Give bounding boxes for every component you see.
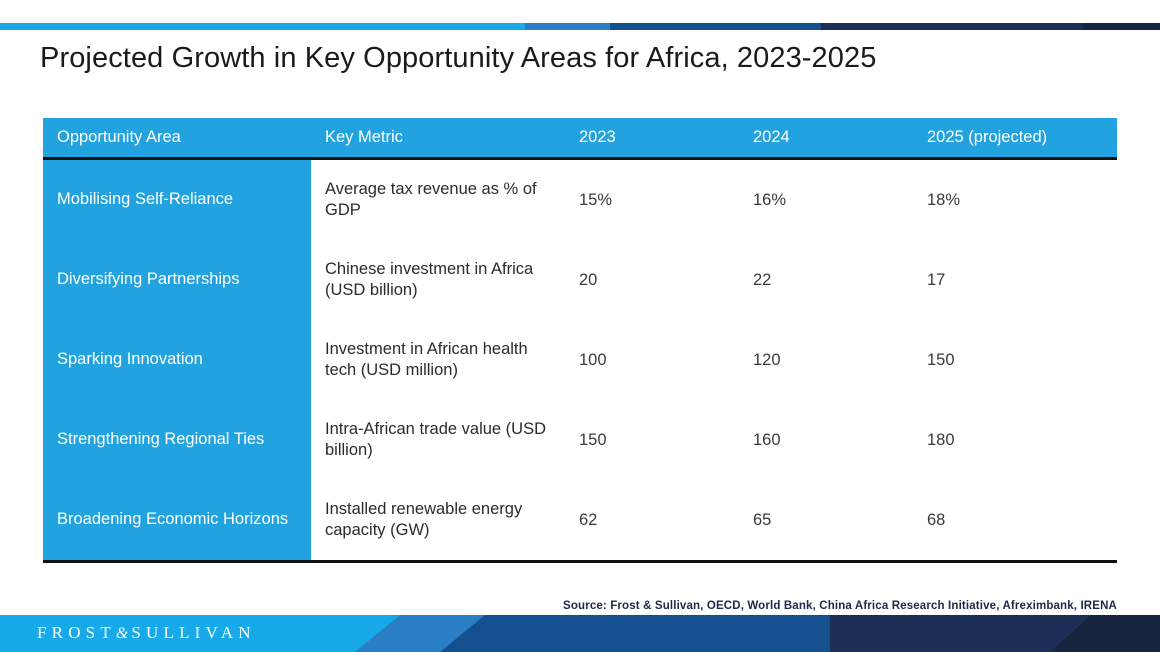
top-bar-segment-mid-blue: [525, 23, 610, 30]
table-row: Strengthening Regional Ties Intra-Africa…: [43, 400, 1117, 480]
top-bar-segment-navy: [821, 23, 1083, 30]
table-row: Sparking Innovation Investment in Africa…: [43, 320, 1117, 400]
cell-key-metric: Investment in African health tech (USD m…: [311, 320, 579, 400]
brand-ampersand-icon: &: [116, 625, 131, 642]
top-accent-bar: [0, 23, 1160, 30]
table-header-row: Opportunity Area Key Metric 2023 2024 20…: [43, 118, 1117, 159]
cell-2025: 18%: [927, 159, 1117, 241]
brand-name-second: SULLIVAN: [131, 623, 255, 642]
cell-2024: 65: [753, 480, 927, 562]
cell-opportunity-area: Strengthening Regional Ties: [43, 400, 311, 480]
cell-key-metric: Installed renewable energy capacity (GW): [311, 480, 579, 562]
cell-2025: 150: [927, 320, 1117, 400]
column-header-key-metric: Key Metric: [311, 118, 579, 159]
cell-opportunity-area: Broadening Economic Horizons: [43, 480, 311, 562]
cell-2024: 22: [753, 240, 927, 320]
slide-footer: FROST&SULLIVAN: [0, 615, 1160, 652]
page-title: Projected Growth in Key Opportunity Area…: [40, 42, 876, 75]
cell-2024: 160: [753, 400, 927, 480]
cell-2025: 180: [927, 400, 1117, 480]
top-bar-segment-deep-blue: [610, 23, 821, 30]
column-header-2025-projected: 2025 (projected): [927, 118, 1117, 159]
cell-2024: 120: [753, 320, 927, 400]
cell-key-metric: Average tax revenue as % of GDP: [311, 159, 579, 241]
cell-2023: 100: [579, 320, 753, 400]
cell-key-metric: Chinese investment in Africa (USD billio…: [311, 240, 579, 320]
table-row: Broadening Economic Horizons Installed r…: [43, 480, 1117, 562]
cell-2025: 17: [927, 240, 1117, 320]
cell-2023: 62: [579, 480, 753, 562]
table-row: Diversifying Partnerships Chinese invest…: [43, 240, 1117, 320]
cell-opportunity-area: Diversifying Partnerships: [43, 240, 311, 320]
frost-sullivan-logo: FROST&SULLIVAN: [37, 624, 256, 642]
column-header-2023: 2023: [579, 118, 753, 159]
opportunity-areas-table: Opportunity Area Key Metric 2023 2024 20…: [43, 118, 1117, 563]
cell-2023: 20: [579, 240, 753, 320]
column-header-2024: 2024: [753, 118, 927, 159]
table-body: Mobilising Self-Reliance Average tax rev…: [43, 159, 1117, 562]
top-bar-segment-dark-navy: [1083, 23, 1160, 30]
column-header-opportunity-area: Opportunity Area: [43, 118, 311, 159]
brand-name-first: FROST: [37, 623, 116, 642]
cell-key-metric: Intra-African trade value (USD billion): [311, 400, 579, 480]
cell-2023: 150: [579, 400, 753, 480]
footer-band-deep-blue: [440, 615, 830, 652]
source-note: Source: Frost & Sullivan, OECD, World Ba…: [563, 600, 1117, 612]
cell-opportunity-area: Mobilising Self-Reliance: [43, 159, 311, 241]
table-row: Mobilising Self-Reliance Average tax rev…: [43, 159, 1117, 241]
table-header: Opportunity Area Key Metric 2023 2024 20…: [43, 118, 1117, 159]
cell-2024: 16%: [753, 159, 927, 241]
top-bar-segment-bright-blue: [0, 23, 525, 30]
cell-2025: 68: [927, 480, 1117, 562]
footer-band-navy: [830, 615, 1090, 652]
cell-opportunity-area: Sparking Innovation: [43, 320, 311, 400]
cell-2023: 15%: [579, 159, 753, 241]
